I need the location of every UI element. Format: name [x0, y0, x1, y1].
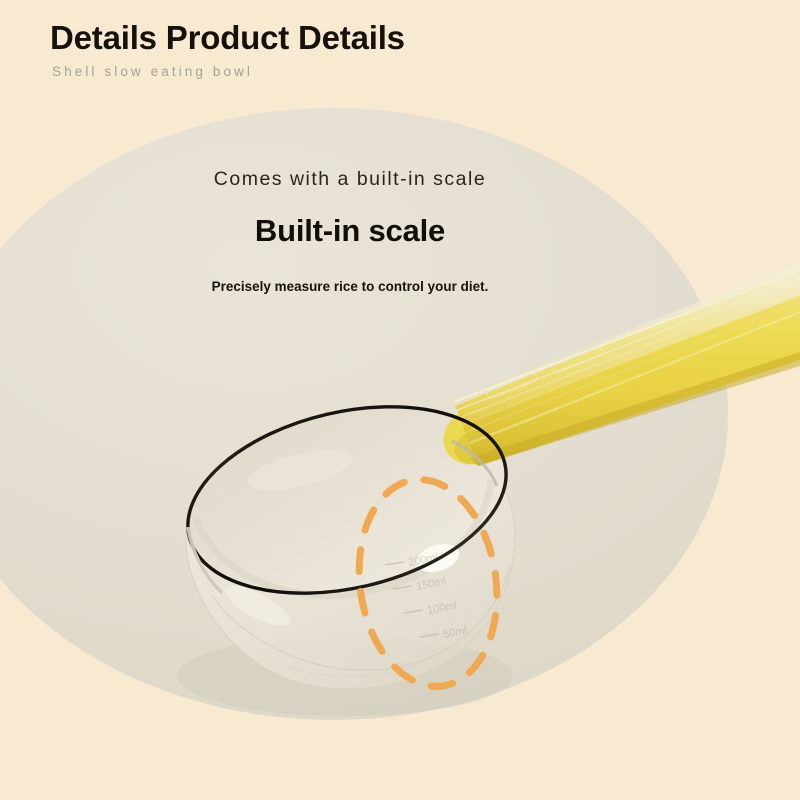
product-detail-image: Details Product Details Shell slow eatin… — [0, 0, 800, 800]
product-scoop-illustration: 200ml 150ml 100ml 50ml — [0, 0, 800, 800]
page-title: Details Product Details — [50, 20, 405, 57]
feature-note: Precisely measure rice to control your d… — [0, 278, 700, 295]
feature-kicker: Comes with a built-in scale — [0, 168, 700, 191]
feature-copy-block: Comes with a built-in scale Built-in sca… — [0, 168, 700, 295]
header: Details Product Details Shell slow eatin… — [50, 20, 405, 79]
page-subtitle: Shell slow eating bowl — [52, 64, 405, 79]
feature-heading: Built-in scale — [0, 212, 700, 249]
